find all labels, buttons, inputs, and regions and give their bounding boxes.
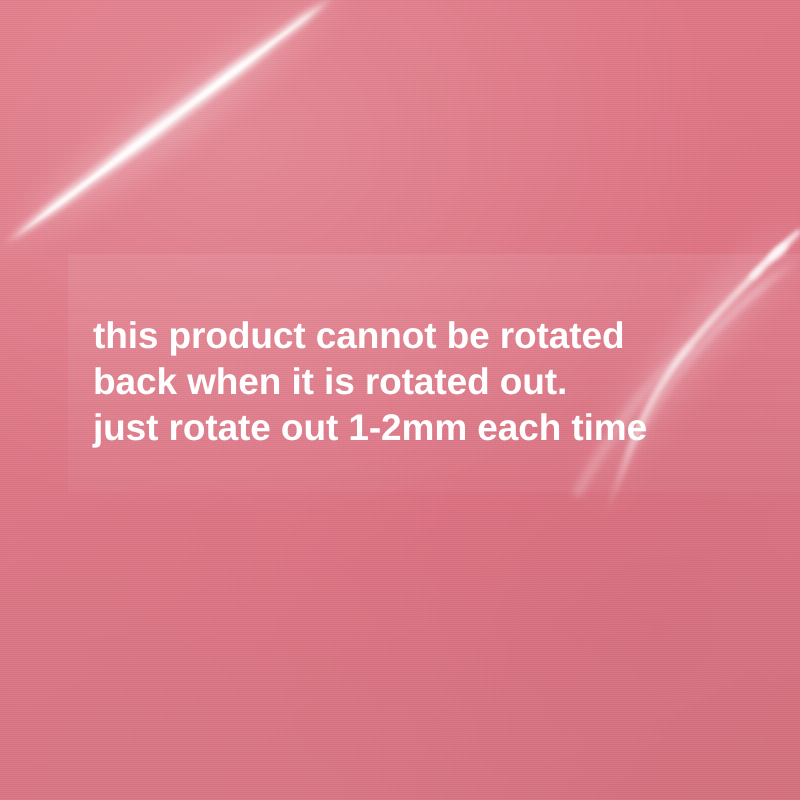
caption-line-1: this product cannot be rotated	[93, 313, 753, 359]
caption-line-2: back when it is rotated out.	[93, 359, 753, 405]
caption-line-3: just rotate out 1-2mm each time	[93, 405, 753, 451]
product-image-canvas: this product cannot be rotated back when…	[0, 0, 800, 800]
caption-text-block: this product cannot be rotated back when…	[93, 313, 753, 451]
